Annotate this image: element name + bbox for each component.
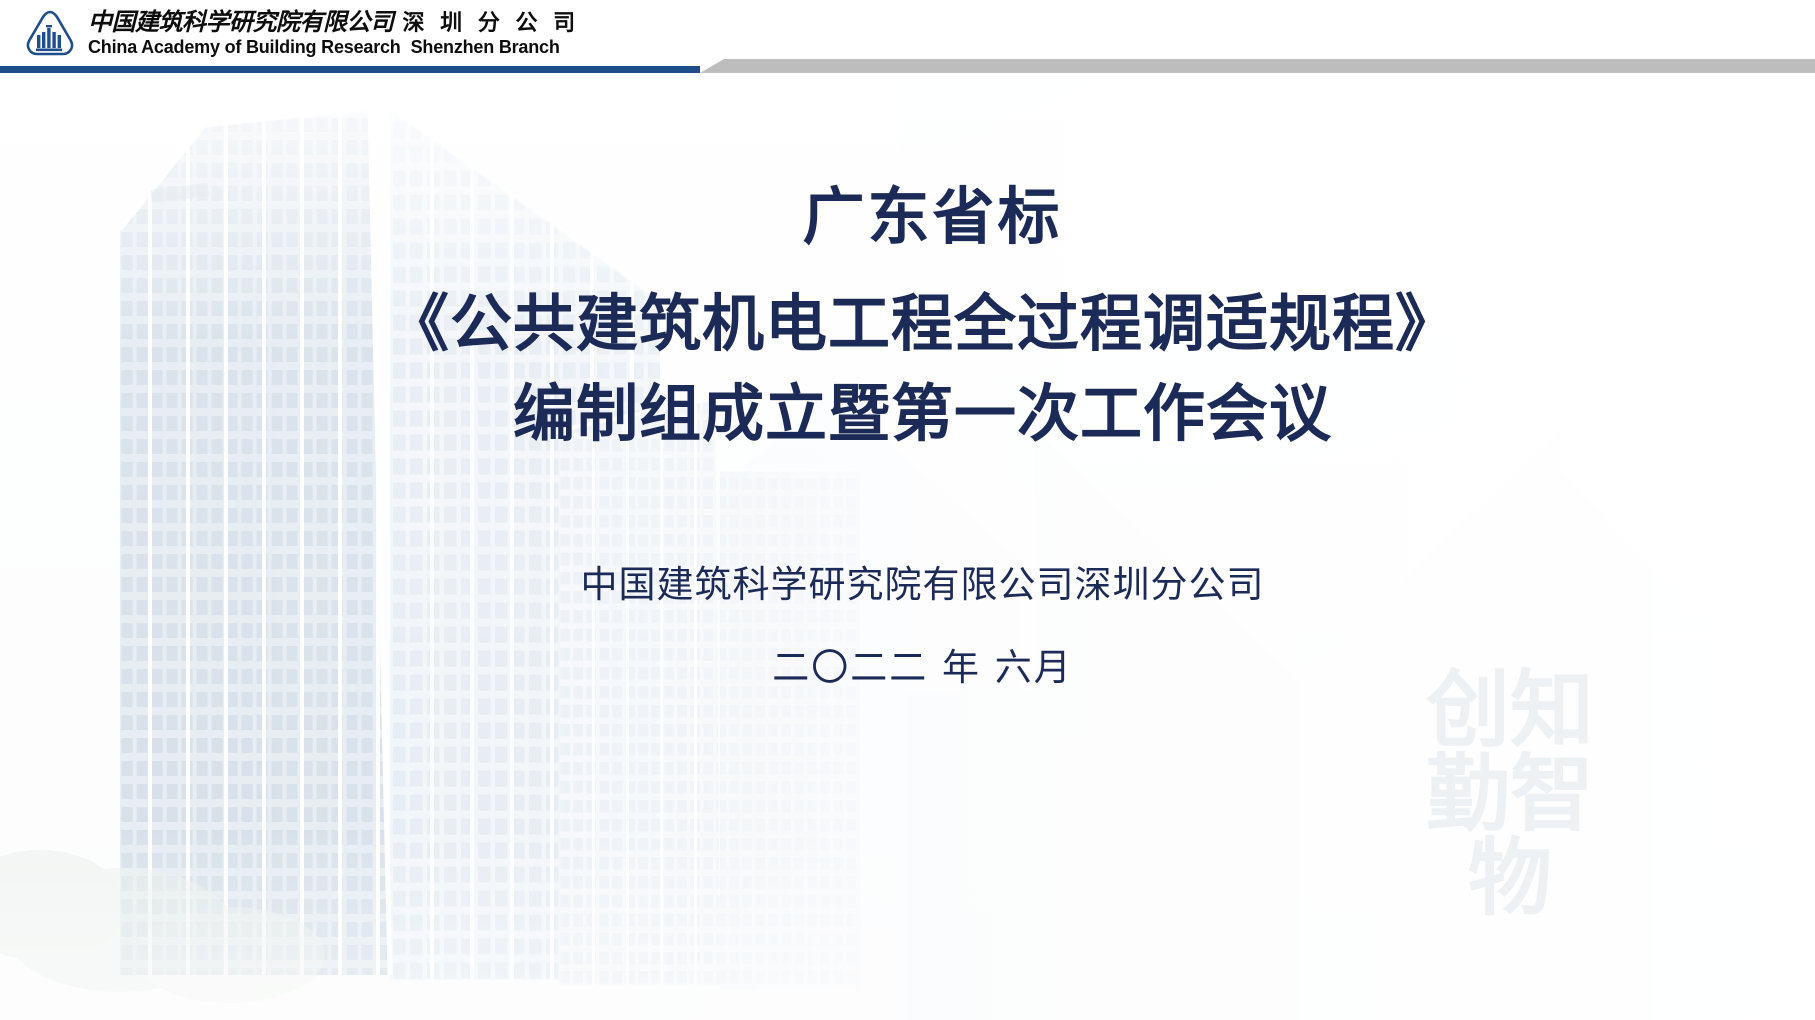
watermark-char-3: 勤 — [1426, 752, 1510, 836]
slide-header: 中国建筑科学研究院有限公司 深 圳 分 公 司 China Academy of… — [0, 0, 1815, 80]
slide-background-artwork — [0, 0, 1815, 1020]
cabr-triangle-logo-icon — [22, 8, 78, 58]
branding-chinese-line: 中国建筑科学研究院有限公司 深 圳 分 公 司 — [88, 10, 579, 35]
slide-title-block: 广东省标 《公共建筑机电工程全过程调适规程》 编制组成立暨第一次工作会议 — [0, 180, 1815, 459]
slide-subtitle-block: 中国建筑科学研究院有限公司深圳分公司 二〇二二 年 六月 — [0, 565, 1815, 688]
branch-name-en: Shenzhen Branch — [411, 38, 560, 56]
subtitle-organization: 中国建筑科学研究院有限公司深圳分公司 — [30, 565, 1815, 606]
watermark-char-5: 物 — [1468, 836, 1552, 920]
org-name-en: China Academy of Building Research — [88, 38, 401, 56]
branding-text-block: 中国建筑科学研究院有限公司 深 圳 分 公 司 China Academy of… — [88, 10, 579, 56]
title-main-line-1: 《公共建筑机电工程全过程调适规程》 — [0, 279, 1815, 369]
branding-english-line: China Academy of Building Research Shenz… — [88, 38, 579, 56]
header-branding: 中国建筑科学研究院有限公司 深 圳 分 公 司 China Academy of… — [22, 8, 579, 58]
watermark-row-2: 勤 智 — [1415, 752, 1605, 836]
subtitle-date: 二〇二二 年 六月 — [30, 648, 1815, 689]
presentation-slide: 中国建筑科学研究院有限公司 深 圳 分 公 司 China Academy of… — [0, 0, 1815, 1020]
watermark-char-4: 智 — [1510, 752, 1594, 836]
org-name-cn: 中国建筑科学研究院有限公司 — [88, 10, 394, 34]
title-main-line-2: 编制组成立暨第一次工作会议 — [0, 369, 1815, 459]
watermark-row-3: 物 — [1415, 836, 1605, 920]
branch-name-cn: 深 圳 分 公 司 — [403, 13, 580, 35]
title-kicker: 广东省标 — [0, 180, 1815, 253]
seal-script-watermark: 创 知 勤 智 物 — [1415, 668, 1605, 920]
